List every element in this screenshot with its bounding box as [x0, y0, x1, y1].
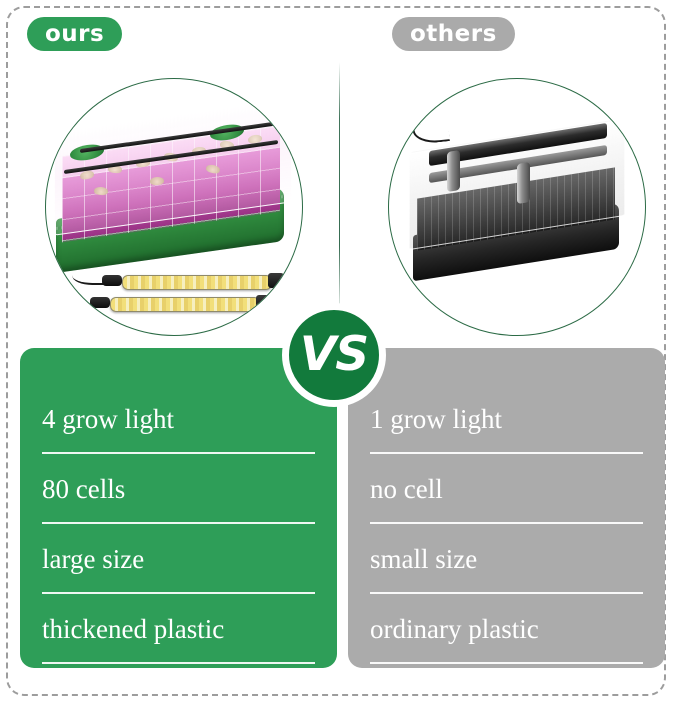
product-photo-others-illustration	[389, 79, 645, 335]
vs-badge-label: VS	[300, 331, 368, 378]
feature-row: ordinary plastic	[370, 594, 643, 664]
product-photo-ours-illustration	[46, 79, 302, 335]
feature-label: 4 grow light	[42, 406, 174, 433]
product-photo-ours	[45, 78, 303, 336]
led-cable	[72, 269, 106, 285]
led-end-cap	[256, 295, 272, 310]
feature-panel-ours: 4 grow light 80 cells large size thicken…	[20, 348, 337, 668]
badge-others: others	[392, 17, 515, 51]
feature-label: no cell	[370, 476, 443, 503]
feature-row: 4 grow light	[42, 384, 315, 454]
feature-label: large size	[42, 546, 144, 573]
feature-row: large size	[42, 524, 315, 594]
feature-row: thickened plastic	[42, 594, 315, 664]
feature-row: small size	[370, 524, 643, 594]
vs-badge: VS	[282, 303, 386, 407]
led-end-cap	[268, 273, 284, 288]
feature-panel-others: 1 grow light no cell small size ordinary…	[348, 348, 665, 668]
light-bar-clip	[447, 150, 460, 192]
badge-ours: ours	[27, 17, 122, 51]
comparison-infographic: ours others	[0, 0, 679, 708]
feature-divider	[370, 662, 643, 664]
power-cable	[412, 121, 450, 145]
grow-light-bar-loose	[110, 297, 260, 312]
feature-row: no cell	[370, 454, 643, 524]
feature-divider	[42, 662, 315, 664]
product-photo-others	[388, 78, 646, 336]
led-plug	[90, 297, 110, 308]
badge-ours-label: ours	[45, 23, 104, 46]
led-plug	[102, 275, 122, 286]
led-cable	[60, 291, 94, 307]
grow-light-bar-loose	[122, 275, 272, 290]
feature-row: 1 grow light	[370, 384, 643, 454]
feature-label: thickened plastic	[42, 616, 224, 643]
feature-label: 1 grow light	[370, 406, 502, 433]
badge-others-label: others	[410, 23, 497, 46]
feature-label: small size	[370, 546, 477, 573]
feature-row: 80 cells	[42, 454, 315, 524]
vertical-divider	[339, 62, 340, 317]
feature-label: 80 cells	[42, 476, 125, 503]
feature-label: ordinary plastic	[370, 616, 539, 643]
light-bar-clip	[517, 162, 530, 204]
